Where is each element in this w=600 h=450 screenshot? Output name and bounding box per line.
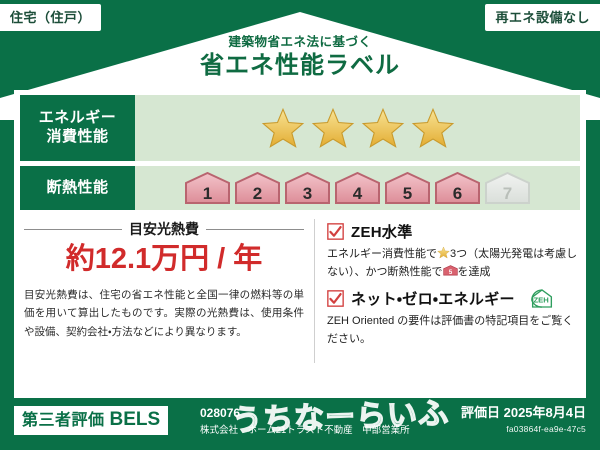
utility-cost-value: 約12.1万円 / 年 <box>24 245 304 274</box>
evaluation-date-label: 評価日 <box>461 405 500 420</box>
lower-section: 目安光熱費 約12.1万円 / 年 目安光熱費は、住宅の省エネ性能と全国一律の燃… <box>14 215 586 367</box>
evaluation-date-value: 2025年8月4日 <box>504 405 586 420</box>
energy-performance-label: 住宅（住戸） 再エネ設備なし 建築物省エネ法に基づく 省エネ性能ラベル エネルギ… <box>0 0 600 450</box>
star-icon-inline <box>437 246 450 259</box>
zeh-logo-icon: ZEH <box>525 288 559 309</box>
insulation-level-4: 4 <box>334 172 381 205</box>
rule-left <box>24 229 122 230</box>
bels-badge: 第三者評価 BELS <box>14 406 168 435</box>
vendor-tel: 028076 <box>200 407 410 420</box>
zeh-netzero-block: ネット・ゼロ・エネルギー ZEH ZEH Oriented の要件は評価書の特記… <box>327 288 580 348</box>
insulation-level-scale: 1 2 3 4 5 6 7 <box>135 166 580 210</box>
zeh-standard-block: ZEH水準 エネルギー消費性能で3つ（太陽光発電は考慮しない）、かつ断熱性能で5… <box>327 221 580 281</box>
evaluation-uid: fa03864f-ea9e-47c5 <box>461 424 586 434</box>
utility-cost-column: 目安光熱費 約12.1万円 / 年 目安光熱費は、住宅の省エネ性能と全国一律の燃… <box>14 215 314 367</box>
insulation-level-2: 2 <box>234 172 281 205</box>
badge-building-type: 住宅（住戸） <box>0 4 101 31</box>
label-footer: 第三者評価 BELS 028076 株式会社 ホーム21トラスト不動産 中部営業… <box>0 398 600 450</box>
zeh-netzero-heading: ネット・ゼロ・エネルギー ZEH <box>327 288 580 309</box>
badge-renewable-energy: 再エネ設備なし <box>485 4 600 31</box>
svg-text:3: 3 <box>303 184 312 203</box>
star-icon <box>311 106 355 150</box>
svg-text:1: 1 <box>203 184 212 203</box>
evaluation-date-block: 評価日 2025年8月4日 fa03864f-ea9e-47c5 <box>461 406 586 434</box>
zeh-standard-body: エネルギー消費性能で3つ（太陽光発電は考慮しない）、かつ断熱性能で5を達成 <box>327 245 580 281</box>
bels-word: BELS <box>109 409 160 430</box>
zeh-standard-heading: ZEH水準 <box>327 221 580 242</box>
energy-performance-label: エネルギー 消費性能 <box>20 95 135 161</box>
vendor-company: 株式会社 ホーム21トラスト不動産 中部営業所 <box>200 425 410 436</box>
energy-label-line1: エネルギー <box>39 109 117 128</box>
star-icon <box>361 106 405 150</box>
energy-star-rating <box>135 95 580 161</box>
energy-label-line2: 消費性能 <box>46 128 108 147</box>
utility-cost-label: 目安光熱費 <box>129 219 199 239</box>
insulation-level-7: 7 <box>484 172 531 205</box>
vendor-info: 028076 株式会社 ホーム21トラスト不動産 中部営業所 <box>200 407 410 437</box>
house-level-icon-inline: 5 <box>443 265 458 276</box>
rule-right <box>206 229 304 230</box>
svg-text:7: 7 <box>503 184 512 203</box>
insulation-level-5: 5 <box>384 172 431 205</box>
checkbox-checked-icon[interactable] <box>327 290 344 307</box>
insulation-performance-label: 断熱性能 <box>20 166 135 210</box>
row-insulation-performance: 断熱性能 1 2 3 4 5 6 7 <box>20 166 580 210</box>
zeh-netzero-title: ネット・ゼロ・エネルギー <box>351 288 515 309</box>
third-party-label: 第三者評価 <box>22 412 105 429</box>
star-icon <box>411 106 455 150</box>
zeh-standard-body-part1: エネルギー消費性能で <box>327 248 437 260</box>
performance-section: エネルギー 消費性能 断熱性能 1 2 3 4 5 <box>14 90 586 210</box>
zeh-netzero-body: ZEH Oriented の要件は評価書の特記項目をご覧ください。 <box>327 312 580 348</box>
insulation-level-3: 3 <box>284 172 331 205</box>
utility-cost-heading: 目安光熱費 <box>24 219 304 239</box>
svg-text:2: 2 <box>253 184 262 203</box>
insulation-level-1: 1 <box>184 172 231 205</box>
evaluation-date: 評価日 2025年8月4日 <box>461 406 586 420</box>
svg-text:ZEH: ZEH <box>533 296 548 305</box>
star-icon <box>261 106 305 150</box>
zeh-column: ZEH水準 エネルギー消費性能で3つ（太陽光発電は考慮しない）、かつ断熱性能で5… <box>315 215 586 367</box>
checkbox-checked-icon[interactable] <box>327 223 344 240</box>
row-energy-performance: エネルギー 消費性能 <box>20 95 580 161</box>
svg-text:5: 5 <box>403 184 412 203</box>
zeh-standard-title: ZEH水準 <box>351 221 413 242</box>
insulation-level-6: 6 <box>434 172 481 205</box>
label-card: エネルギー 消費性能 断熱性能 1 2 3 4 5 <box>14 90 586 398</box>
zeh-standard-body-part2: を達成 <box>458 266 491 278</box>
svg-text:4: 4 <box>353 184 363 203</box>
svg-text:6: 6 <box>453 184 462 203</box>
utility-cost-note: 目安光熱費は、住宅の省エネ性能と全国一律の燃料等の単価を用いて算出したものです。… <box>24 286 304 341</box>
